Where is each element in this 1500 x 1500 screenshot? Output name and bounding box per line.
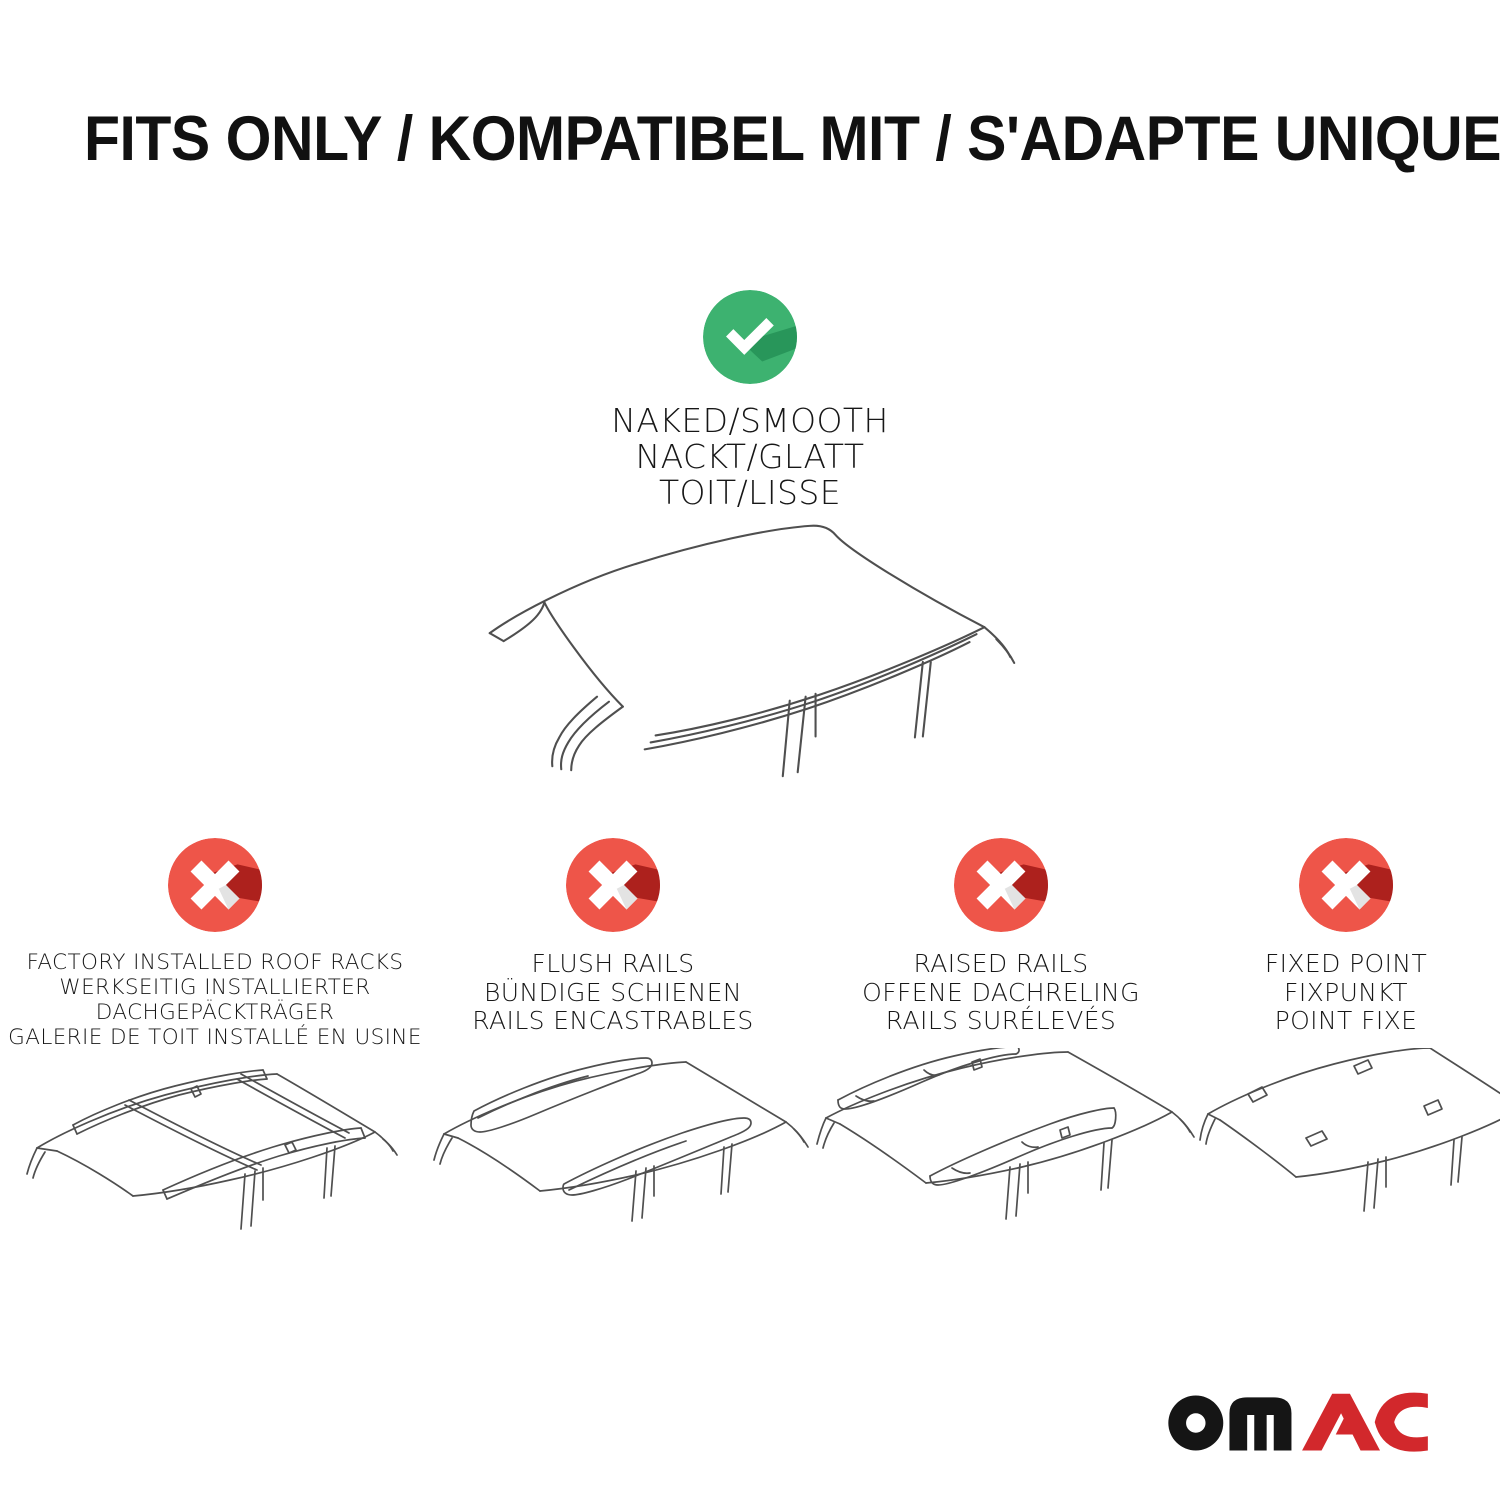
roof-type-label-line-2: OFFENE DACHRELING: [812, 979, 1190, 1008]
cross-circle-icon: [566, 838, 660, 932]
roof-type-label-line-4: GALERIE DE TOIT INSTALLÉ EN USINE: [8, 1025, 422, 1050]
cross-circle-icon: [954, 838, 1048, 932]
roof-type-label-group: FLUSH RAILS BÜNDIGE SCHIENEN RAILS ENCAS…: [424, 950, 802, 1036]
non-compatible-roof-types-row: FACTORY INSTALLED ROOF RACKS WERKSEITIG …: [0, 838, 1500, 1438]
roof-type-label-group: RAISED RAILS OFFENE DACHRELING RAILS SUR…: [812, 950, 1190, 1036]
roof-type-label-group: FIXED POINT FIXPUNKT POINT FIXE: [1196, 950, 1496, 1036]
approved-fitment-group: NAKED/SMOOTH NACKT/GLATT TOIT/LISSE: [450, 290, 1050, 511]
page-title: FITS ONLY / KOMPATIBEL MIT / S'ADAPTE UN…: [84, 104, 1337, 174]
roof-type-raised-rails: RAISED RAILS OFFENE DACHRELING RAILS SUR…: [812, 838, 1190, 1036]
roof-type-label-line-2: FIXPUNKT: [1196, 979, 1496, 1008]
approved-label-group: NAKED/SMOOTH NACKT/GLATT TOIT/LISSE: [450, 403, 1050, 511]
roof-type-label-line-3: DACHGEPÄCKTRÄGER: [8, 1000, 422, 1025]
roof-type-label-line-2: BÜNDIGE SCHIENEN: [424, 979, 802, 1008]
approved-label-line-2: NACKT/GLATT: [450, 439, 1050, 475]
check-circle-icon: [703, 290, 797, 384]
roof-type-label-group: FACTORY INSTALLED ROOF RACKS WERKSEITIG …: [8, 950, 422, 1050]
car-roof-with-factory-rack-illustration: [8, 1048, 422, 1298]
car-roof-with-fixed-points-illustration: [1196, 1048, 1496, 1298]
roof-type-label-line-1: RAISED RAILS: [812, 950, 1190, 979]
roof-type-label-line-3: RAILS ENCASTRABLES: [424, 1007, 802, 1036]
roof-type-label-line-3: RAILS SURÉLEVÉS: [812, 1007, 1190, 1036]
roof-type-label-line-1: FLUSH RAILS: [424, 950, 802, 979]
approved-label-line-1: NAKED/SMOOTH: [450, 403, 1050, 439]
roof-type-label-line-1: FACTORY INSTALLED ROOF RACKS: [8, 950, 422, 975]
car-roof-with-raised-rails-illustration: [812, 1048, 1190, 1298]
roof-type-factory-installed-roof-racks: FACTORY INSTALLED ROOF RACKS WERKSEITIG …: [8, 838, 422, 1050]
bare-smooth-car-roof-illustration: [452, 505, 1048, 805]
cross-circle-icon: [1299, 838, 1393, 932]
car-roof-with-flush-rails-illustration: [424, 1048, 802, 1298]
roof-type-label-line-1: FIXED POINT: [1196, 950, 1496, 979]
roof-type-label-line-3: POINT FIXE: [1196, 1007, 1496, 1036]
roof-type-fixed-point: FIXED POINT FIXPUNKT POINT FIXE: [1196, 838, 1496, 1036]
roof-type-flush-rails: FLUSH RAILS BÜNDIGE SCHIENEN RAILS ENCAS…: [424, 838, 802, 1036]
cross-circle-icon: [168, 838, 262, 932]
omac-logo: [1162, 1392, 1428, 1454]
roof-type-label-line-2: WERKSEITIG INSTALLIERTER: [8, 975, 422, 1000]
